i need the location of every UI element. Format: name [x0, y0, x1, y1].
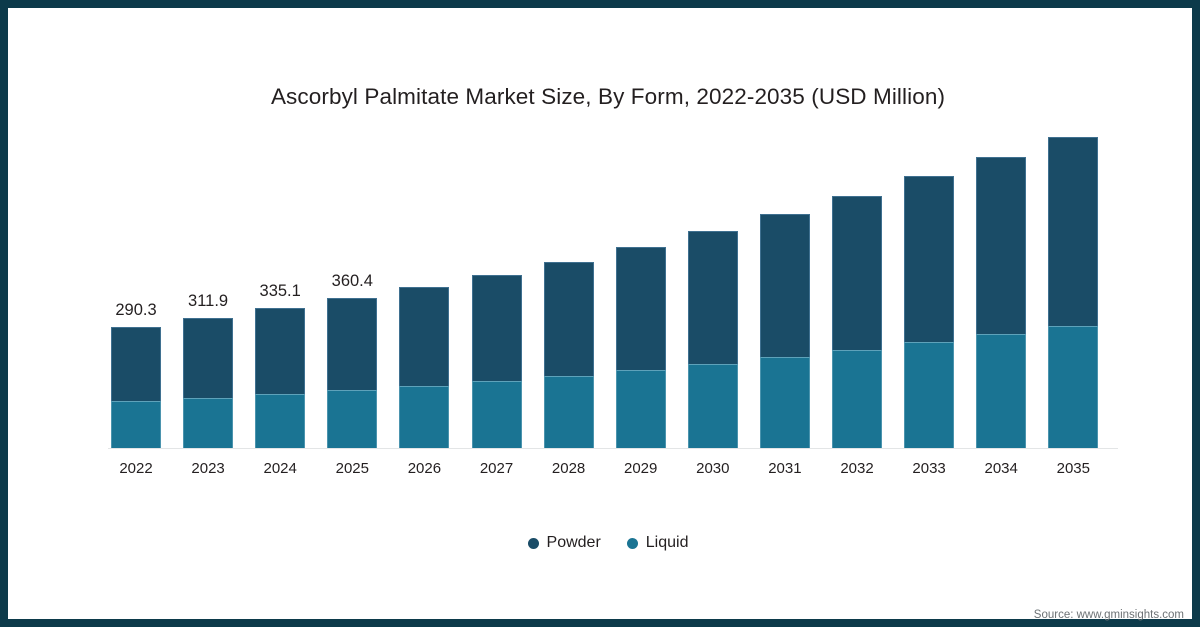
- bar-group[interactable]: 311.9: [183, 318, 233, 448]
- x-axis-tick-2027: 2027: [456, 460, 538, 477]
- bar-group[interactable]: [544, 262, 594, 448]
- bar-group[interactable]: [976, 157, 1026, 448]
- bar-group[interactable]: [688, 231, 738, 448]
- bar-value-label: 290.3: [95, 301, 177, 320]
- x-axis-tick-2032: 2032: [816, 460, 898, 477]
- bar-segment-powder[interactable]: [399, 287, 449, 386]
- bar-value-label: 360.4: [311, 272, 393, 291]
- x-axis-tick-2028: 2028: [528, 460, 610, 477]
- bar-segment-powder[interactable]: [472, 275, 522, 381]
- bar-group[interactable]: [399, 287, 449, 448]
- bar-group[interactable]: 360.4: [327, 298, 377, 448]
- bar-segment-liquid[interactable]: [544, 376, 594, 448]
- legend-label: Powder: [547, 534, 601, 552]
- bar-segment-liquid[interactable]: [255, 394, 305, 448]
- x-axis-tick-2023: 2023: [167, 460, 249, 477]
- bar-segment-liquid[interactable]: [327, 390, 377, 448]
- bar-group[interactable]: [760, 214, 810, 448]
- x-axis-tick-2026: 2026: [383, 460, 465, 477]
- bar-segment-liquid[interactable]: [472, 381, 522, 448]
- bar-segment-liquid[interactable]: [616, 370, 666, 448]
- bar-segment-powder[interactable]: [255, 308, 305, 394]
- x-axis-tick-2025: 2025: [311, 460, 393, 477]
- bar-segment-powder[interactable]: [976, 157, 1026, 334]
- bar-group[interactable]: [616, 247, 666, 448]
- x-axis-tick-2029: 2029: [600, 460, 682, 477]
- bar-segment-powder[interactable]: [832, 196, 882, 350]
- x-axis-tick-2022: 2022: [95, 460, 177, 477]
- bar-segment-liquid[interactable]: [904, 342, 954, 448]
- source-attribution: Source: www.gminsights.com: [1034, 609, 1184, 621]
- bar-group[interactable]: [904, 176, 954, 448]
- x-axis-tick-2035: 2035: [1032, 460, 1114, 477]
- circle-marker: [627, 538, 638, 549]
- legend-item-powder[interactable]: Powder: [528, 534, 601, 552]
- circle-marker: [528, 538, 539, 549]
- x-axis-line: [108, 448, 1118, 449]
- bar-segment-powder[interactable]: [760, 214, 810, 357]
- chart-canvas: Ascorbyl Palmitate Market Size, By Form,…: [8, 8, 1200, 635]
- bar-segment-liquid[interactable]: [1048, 326, 1098, 448]
- bar-segment-powder[interactable]: [183, 318, 233, 398]
- bar-segment-powder[interactable]: [544, 262, 594, 376]
- bar-segment-powder[interactable]: [616, 247, 666, 370]
- bar-segment-liquid[interactable]: [976, 334, 1026, 448]
- x-axis-tick-2033: 2033: [888, 460, 970, 477]
- bar-segment-powder[interactable]: [904, 176, 954, 342]
- bar-value-label: 335.1: [239, 282, 321, 301]
- x-axis-tick-2030: 2030: [672, 460, 754, 477]
- x-axis-tick-2034: 2034: [960, 460, 1042, 477]
- bar-group[interactable]: [1048, 137, 1098, 448]
- chart-frame: Ascorbyl Palmitate Market Size, By Form,…: [0, 0, 1200, 627]
- chart-legend: PowderLiquid: [8, 534, 1200, 552]
- bar-segment-liquid[interactable]: [832, 350, 882, 448]
- bar-group[interactable]: 290.3: [111, 327, 161, 448]
- x-axis-tick-2024: 2024: [239, 460, 321, 477]
- bar-segment-liquid[interactable]: [399, 386, 449, 448]
- bar-segment-liquid[interactable]: [111, 401, 161, 448]
- bar-value-label: 311.9: [167, 292, 249, 311]
- chart-title: Ascorbyl Palmitate Market Size, By Form,…: [8, 84, 1200, 110]
- legend-label: Liquid: [646, 534, 689, 552]
- bar-segment-powder[interactable]: [1048, 137, 1098, 326]
- bar-segment-liquid[interactable]: [760, 357, 810, 448]
- bar-segment-powder[interactable]: [688, 231, 738, 364]
- bar-segment-powder[interactable]: [111, 327, 161, 401]
- x-axis-tick-2031: 2031: [744, 460, 826, 477]
- bar-segment-liquid[interactable]: [183, 398, 233, 448]
- bar-group[interactable]: [832, 196, 882, 448]
- bar-group[interactable]: [472, 275, 522, 448]
- legend-item-liquid[interactable]: Liquid: [627, 534, 689, 552]
- bar-group[interactable]: 335.1: [255, 308, 305, 448]
- bar-segment-liquid[interactable]: [688, 364, 738, 448]
- bar-segment-powder[interactable]: [327, 298, 377, 390]
